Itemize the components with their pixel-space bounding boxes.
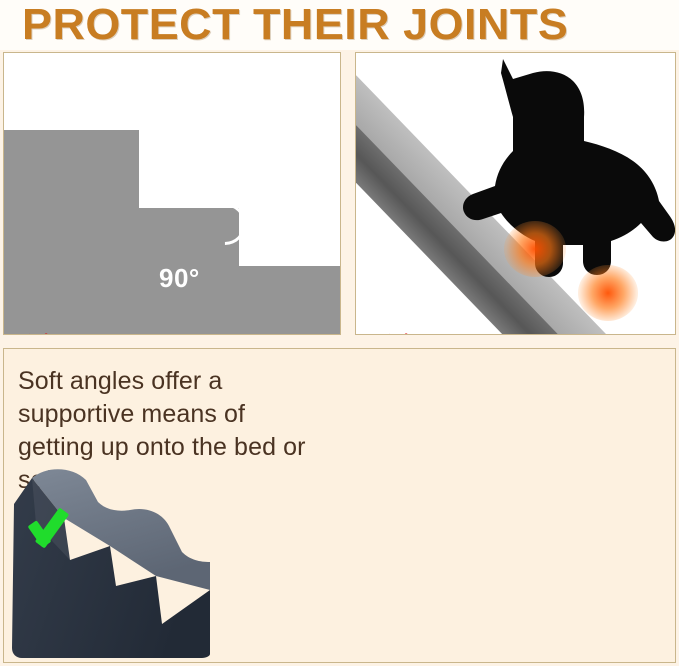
x-stroke-2	[382, 333, 416, 335]
dog-silhouette-icon	[451, 55, 676, 280]
red-x-icon	[376, 328, 420, 335]
green-check-icon	[32, 501, 84, 547]
step-block-upper	[4, 130, 139, 335]
panel-solution: Soft angles offer a supportive means of …	[3, 348, 676, 663]
panel-sharp-steps: 90°	[3, 52, 341, 335]
step-block-lower	[239, 266, 341, 335]
x-stroke-2	[22, 333, 56, 335]
title-bar: PROTECT THEIR JOINTS	[0, 0, 679, 50]
page-title: PROTECT THEIR JOINTS	[22, 3, 568, 47]
panel-steep-ramp	[355, 52, 676, 335]
angle-label: 90°	[159, 265, 200, 291]
red-x-icon	[16, 328, 60, 335]
pet-stairs-product	[6, 464, 211, 663]
